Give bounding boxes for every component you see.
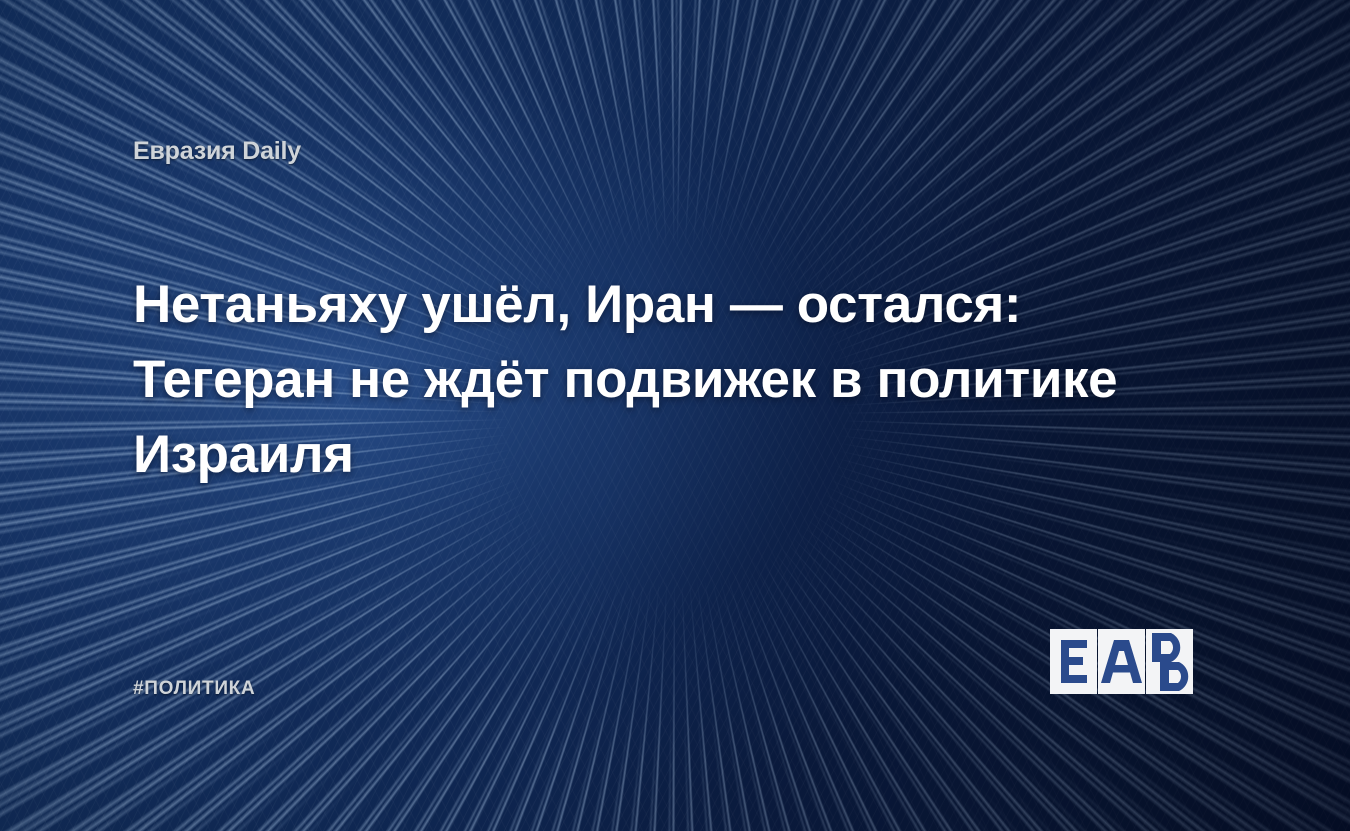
logo-tile-e-icon [1050,629,1097,694]
card-content: Евразия Daily Нетаньяху ушёл, Иран — ост… [0,0,1350,831]
news-card: Евразия Daily Нетаньяху ушёл, Иран — ост… [0,0,1350,831]
category-tag[interactable]: #ПОЛИТИКА [133,678,255,700]
brand-name: Евразия Daily [133,137,301,166]
eadaily-logo[interactable] [1050,629,1230,694]
logo-tile-d-split-icon [1146,629,1193,694]
page-title: Нетаньяху ушёл, Иран — остался: Тегеран … [133,267,1193,492]
logo-tile-a-icon [1098,629,1145,694]
